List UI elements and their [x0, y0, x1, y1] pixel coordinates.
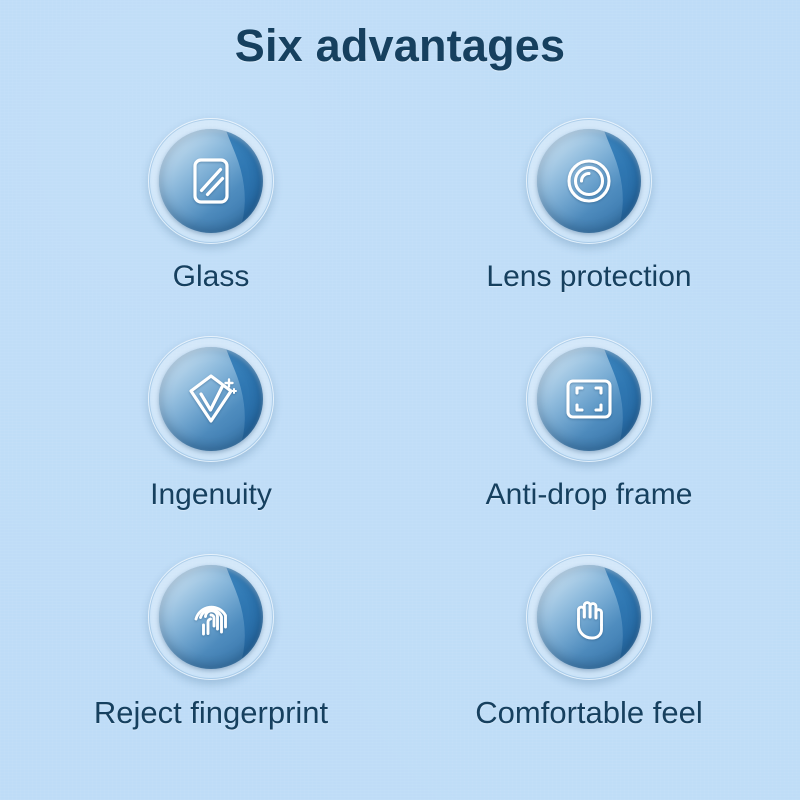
feature-badge[interactable] — [148, 118, 274, 244]
feature-label: Lens protection — [486, 258, 691, 296]
open-hand-icon — [537, 565, 641, 669]
glass-screen-icon — [159, 129, 263, 233]
fingerprint-icon — [159, 565, 263, 669]
feature-grid: Glass Lens protection — [0, 118, 800, 772]
badge-disc — [159, 129, 263, 233]
badge-disc — [159, 565, 263, 669]
feature-label: Reject fingerprint — [94, 694, 328, 732]
feature-badge[interactable] — [148, 554, 274, 680]
feature-label: Ingenuity — [150, 476, 272, 514]
feature-item-lens-protection[interactable]: Lens protection — [454, 118, 724, 336]
feature-label: Comfortable feel — [475, 694, 702, 732]
feature-badge[interactable] — [526, 554, 652, 680]
feature-label: Anti-drop frame — [486, 476, 693, 514]
feature-item-reject-fingerprint[interactable]: Reject fingerprint — [76, 554, 346, 772]
feature-item-glass[interactable]: Glass — [76, 118, 346, 336]
feature-badge[interactable] — [526, 336, 652, 462]
feature-item-ingenuity[interactable]: Ingenuity — [76, 336, 346, 554]
diamond-check-icon — [159, 347, 263, 451]
page-title: Six advantages — [0, 16, 800, 76]
feature-badge[interactable] — [526, 118, 652, 244]
badge-disc — [537, 347, 641, 451]
feature-row-2: Ingenuity — [0, 336, 800, 554]
corner-frame-icon — [537, 347, 641, 451]
badge-disc — [537, 565, 641, 669]
feature-item-comfortable-feel[interactable]: Comfortable feel — [454, 554, 724, 772]
six-advantages-infographic: Six advantages Glass — [0, 0, 800, 800]
feature-badge[interactable] — [148, 336, 274, 462]
badge-disc — [159, 347, 263, 451]
feature-label: Glass — [173, 258, 250, 296]
feature-item-anti-drop-frame[interactable]: Anti-drop frame — [454, 336, 724, 554]
badge-disc — [537, 129, 641, 233]
camera-lens-icon — [537, 129, 641, 233]
feature-row-3: Reject fingerprint — [0, 554, 800, 772]
feature-row-1: Glass Lens protection — [0, 118, 800, 336]
